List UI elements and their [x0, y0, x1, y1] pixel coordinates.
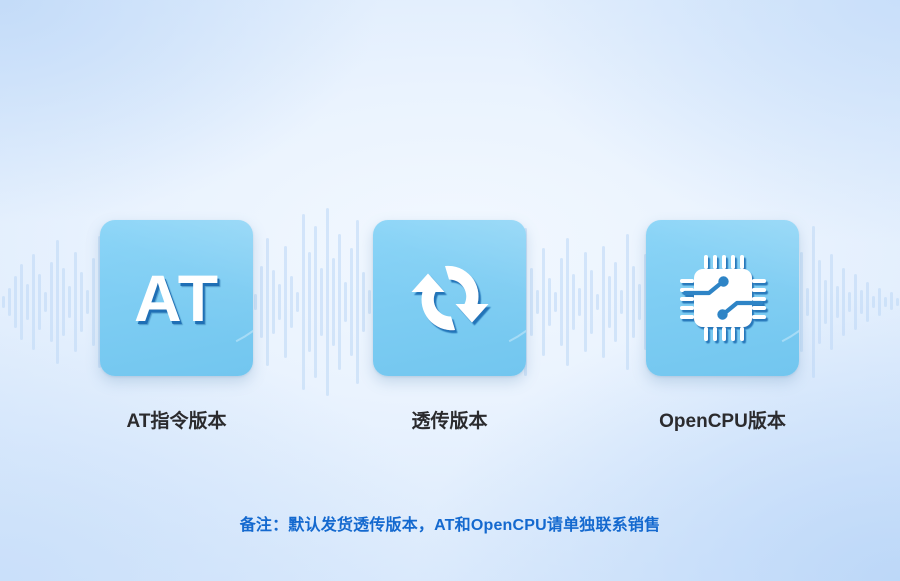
version-tile-transparent[interactable]	[373, 220, 526, 376]
version-card-opencpu[interactable]: OpenCPU版本	[646, 220, 799, 376]
version-tiles-row: AT AT指令版本	[0, 220, 900, 380]
cpu-chip-icon	[646, 220, 799, 376]
version-label-at: AT指令版本	[127, 406, 227, 433]
version-label-opencpu: OpenCPU版本	[659, 406, 786, 433]
footnote-text: 备注：默认发货透传版本，AT和OpenCPU请单独联系销售	[0, 511, 900, 535]
version-tile-opencpu[interactable]	[646, 220, 799, 376]
at-command-icon: AT	[100, 220, 253, 376]
version-tile-at[interactable]: AT	[100, 220, 253, 376]
version-card-at[interactable]: AT AT指令版本	[100, 220, 253, 376]
version-card-transparent[interactable]: 透传版本	[373, 220, 526, 376]
at-icon-label: AT	[134, 265, 219, 331]
version-label-transparent: 透传版本	[411, 406, 487, 433]
slide-canvas: AT AT指令版本	[0, 0, 900, 581]
sync-arrows-icon	[373, 220, 526, 376]
